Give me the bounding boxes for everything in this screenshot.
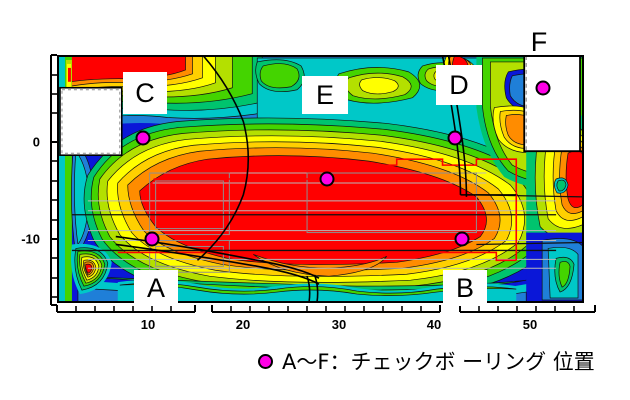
- legend-label: A～F：チェックボ ーリング 位置: [282, 346, 595, 376]
- borehole-marker-b[interactable]: [455, 232, 470, 247]
- x-axis: [40, 303, 600, 319]
- borehole-marker-e[interactable]: [320, 172, 335, 187]
- x-tick-label: 50: [523, 317, 537, 332]
- contour-map-figure: 10 20 30 40 50 0 -10 A B C D: [0, 0, 630, 400]
- borehole-marker-f[interactable]: [536, 81, 551, 96]
- borehole-marker-d[interactable]: [448, 131, 463, 146]
- legend: A～F：チェックボ ーリング 位置: [258, 346, 595, 376]
- x-tick-label: 10: [141, 317, 155, 332]
- x-tick-label: 20: [236, 317, 250, 332]
- y-tick-label: 0: [22, 135, 40, 150]
- x-tick-label: 40: [427, 317, 441, 332]
- y-axis: [42, 50, 58, 310]
- borehole-label-a: A: [134, 270, 178, 306]
- borehole-label-f: F: [524, 25, 554, 59]
- borehole-label-e: E: [302, 76, 348, 114]
- y-tick-label: -10: [8, 232, 40, 247]
- x-tick-label: 30: [332, 317, 346, 332]
- borehole-label-b: B: [443, 270, 487, 306]
- borehole-marker-c[interactable]: [136, 131, 151, 146]
- borehole-marker-icon: [258, 354, 273, 369]
- borehole-marker-a[interactable]: [145, 232, 160, 247]
- borehole-label-c: C: [123, 72, 167, 114]
- borehole-label-d: D: [436, 65, 482, 105]
